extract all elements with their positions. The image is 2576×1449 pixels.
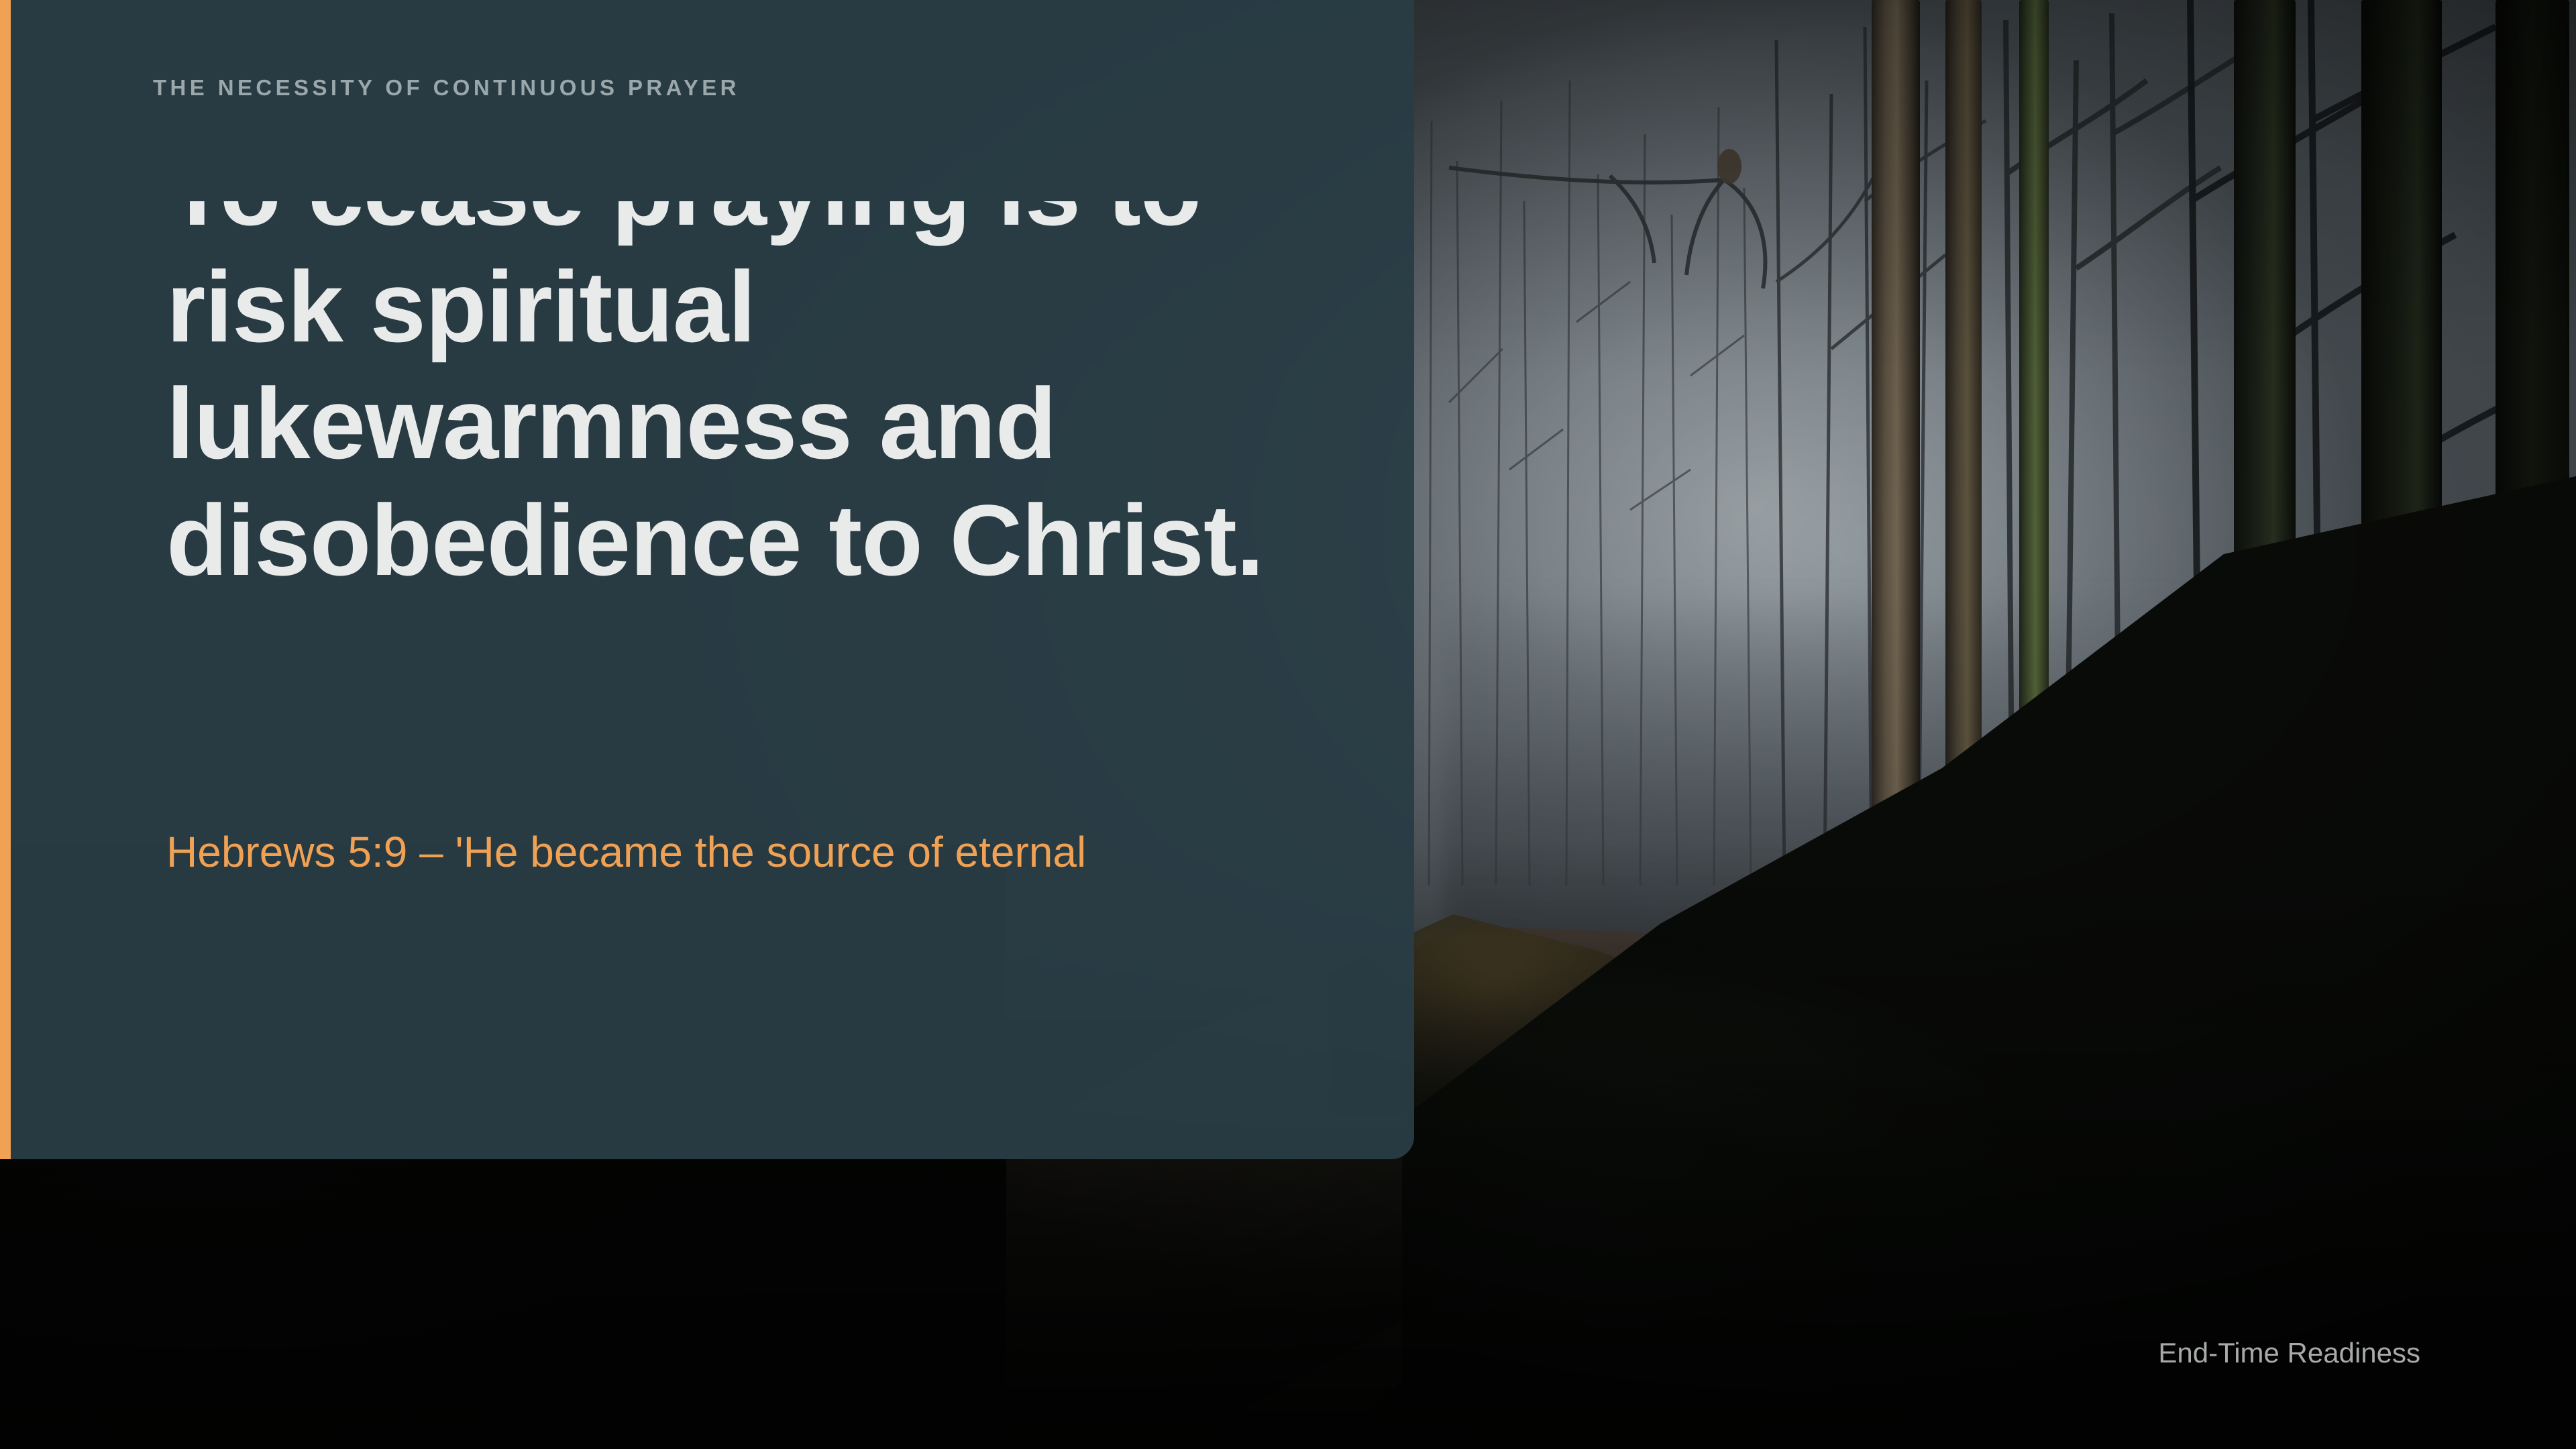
- slide-subtitle: Hebrews 5:9 – 'He became the source of e…: [166, 827, 1307, 877]
- slide-headline: To cease praying is to risk spiritual lu…: [166, 201, 1267, 598]
- presentation-slide: THE NECESSITY OF CONTINUOUS PRAYER To ce…: [0, 0, 2576, 1449]
- slide-footer: End-Time Readiness: [2158, 1337, 2420, 1369]
- slide-eyebrow: THE NECESSITY OF CONTINUOUS PRAYER: [153, 75, 740, 101]
